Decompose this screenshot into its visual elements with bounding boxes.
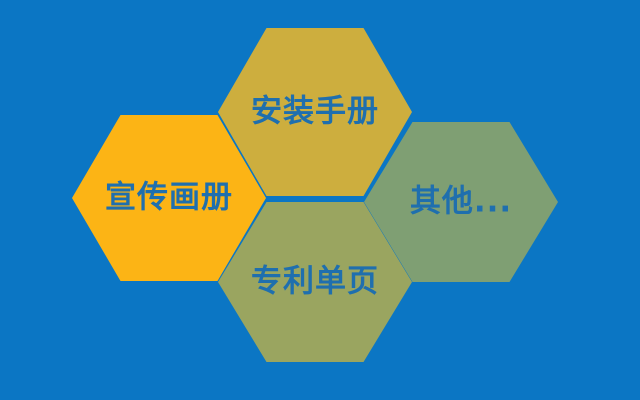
hexagon-group [0, 0, 640, 400]
diagram-canvas: 宣传画册安装手册专利单页其他... [0, 0, 640, 400]
